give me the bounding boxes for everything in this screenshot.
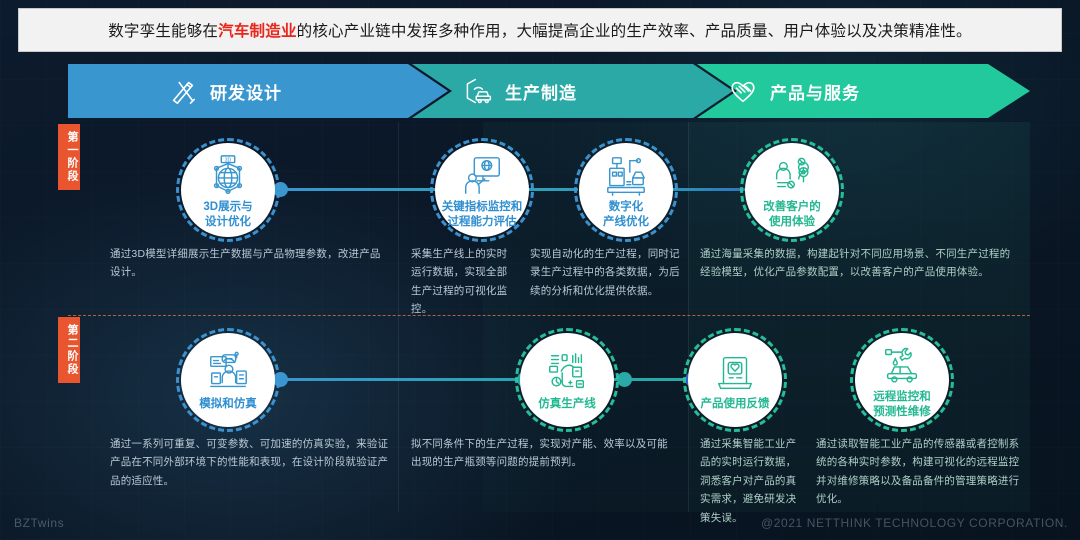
headline-highlight: 汽车制造业 — [218, 23, 297, 40]
node-disc: 模拟和仿真 — [181, 333, 275, 427]
footer-copyright: @2021 NETTHINK TECHNOLOGY CORPORATION. — [761, 516, 1068, 530]
node-disc: 产品使用反馈 — [688, 333, 782, 427]
node-r1-c1[interactable]: 3D 3D展示与 设计优化 — [176, 138, 280, 242]
column-divider-2 — [688, 122, 689, 512]
production-line-icon — [603, 153, 649, 199]
desc-r1-1: 通过3D模型详细展示生产数据与产品物理参数，改进产品设计。 — [110, 245, 390, 282]
node-caption: 模拟和仿真 — [199, 397, 257, 411]
3d-globe-model-icon: 3D — [205, 153, 251, 199]
node-caption: 产品使用反馈 — [701, 397, 770, 411]
node-caption: 仿真生产线 — [538, 397, 596, 411]
node-disc: 数字化 产线优化 — [579, 143, 673, 237]
footer-brand: BZTwins — [14, 516, 64, 530]
node-caption: 改善客户的 使用体验 — [763, 200, 821, 228]
node-caption: 远程监控和 预测性维修 — [873, 390, 931, 418]
arrow-segment-2 — [412, 64, 733, 118]
desc-r2-1: 通过一系列可重复、可变参数、可加速的仿真实验，来验证产品在不同外部环境下的性能和… — [110, 435, 390, 490]
connector-r2-a — [280, 378, 523, 381]
process-arrow-bar: 研发设计 生产制造 产品与服务 — [68, 60, 1030, 122]
node-disc: 改善客户的 使用体验 — [745, 143, 839, 237]
arrow-segment-1 — [68, 64, 448, 118]
node-caption: 3D展示与 设计优化 — [203, 200, 252, 228]
node-r1-c2[interactable]: 关键指标监控和 过程能力评估 — [430, 138, 534, 242]
node-r2-c2[interactable]: 仿真生产线 — [515, 328, 619, 432]
desc-r1-3: 实现自动化的生产过程，同时记录生产过程中的各类数据，为后续的分析和优化提供依据。 — [530, 245, 680, 300]
node-disc: 远程监控和 预测性维修 — [855, 333, 949, 427]
customer-journey-icon — [769, 153, 815, 199]
headline-text: 数字孪生能够在汽车制造业的核心产业链中发挥多种作用，大幅提高企业的生产效率、产品… — [108, 19, 972, 41]
stage-badge-1: 第一阶段 — [58, 124, 80, 190]
connector-node-r2-3 — [617, 372, 632, 387]
arrow-segment-3 — [697, 64, 1030, 118]
laptop-feedback-icon — [712, 350, 758, 396]
column-divider-1 — [398, 122, 399, 512]
node-r2-c4[interactable]: 远程监控和 预测性维修 — [850, 328, 954, 432]
node-caption: 关键指标监控和 过程能力评估 — [442, 200, 523, 228]
desc-r2-3: 通过采集智能工业产品的实时运行数据，洞悉客户对产品的真实需求，避免研发决策失误。 — [700, 435, 805, 527]
node-disc: 3D 3D展示与 设计优化 — [181, 143, 275, 237]
node-r2-c1[interactable]: 模拟和仿真 — [176, 328, 280, 432]
node-caption: 数字化 产线优化 — [603, 200, 649, 228]
simulation-vr-icon — [205, 350, 251, 396]
stage-divider — [68, 315, 1030, 316]
node-r2-c3[interactable]: 产品使用反馈 — [683, 328, 787, 432]
node-r1-c4[interactable]: 改善客户的 使用体验 — [740, 138, 844, 242]
stage-badge-2: 第二阶段 — [58, 317, 80, 383]
arrow-bar-svg — [68, 60, 1030, 122]
desc-r2-4: 通过读取智能工业产品的传感器或者控制系统的各种实时参数，构建可视化的远程监控并对… — [816, 435, 1021, 509]
node-disc: 关键指标监控和 过程能力评估 — [435, 143, 529, 237]
content-panel: 第一阶段 第二阶段 3D 3D展示与 设计优化 — [68, 122, 1030, 512]
node-r1-c3[interactable]: 数字化 产线优化 — [574, 138, 678, 242]
robot-arm-data-icon — [544, 350, 590, 396]
headline-suffix: 的核心产业链中发挥多种作用，大幅提高企业的生产效率、产品质量、用户体验以及决策精… — [297, 23, 972, 40]
node-disc: 仿真生产线 — [520, 333, 614, 427]
desc-r1-2: 采集生产线上的实时运行数据，实现全部生产过程的可视化监控。 — [411, 245, 516, 319]
car-maintenance-icon — [879, 343, 925, 389]
headline-prefix: 数字孪生能够在 — [108, 23, 218, 40]
slide-canvas: 数字孪生能够在汽车制造业的核心产业链中发挥多种作用，大幅提高企业的生产效率、产品… — [0, 0, 1080, 540]
headline-banner: 数字孪生能够在汽车制造业的核心产业链中发挥多种作用，大幅提高企业的生产效率、产品… — [18, 8, 1062, 52]
monitor-person-icon — [459, 153, 505, 199]
desc-r1-4: 通过海量采集的数据，构建起针对不同应用场景、不同生产过程的经验模型，优化产品参数… — [700, 245, 1020, 282]
desc-r2-2: 拟不同条件下的生产过程，实现对产能、效率以及可能出现的生产瓶颈等问题的提前预判。 — [411, 435, 676, 472]
